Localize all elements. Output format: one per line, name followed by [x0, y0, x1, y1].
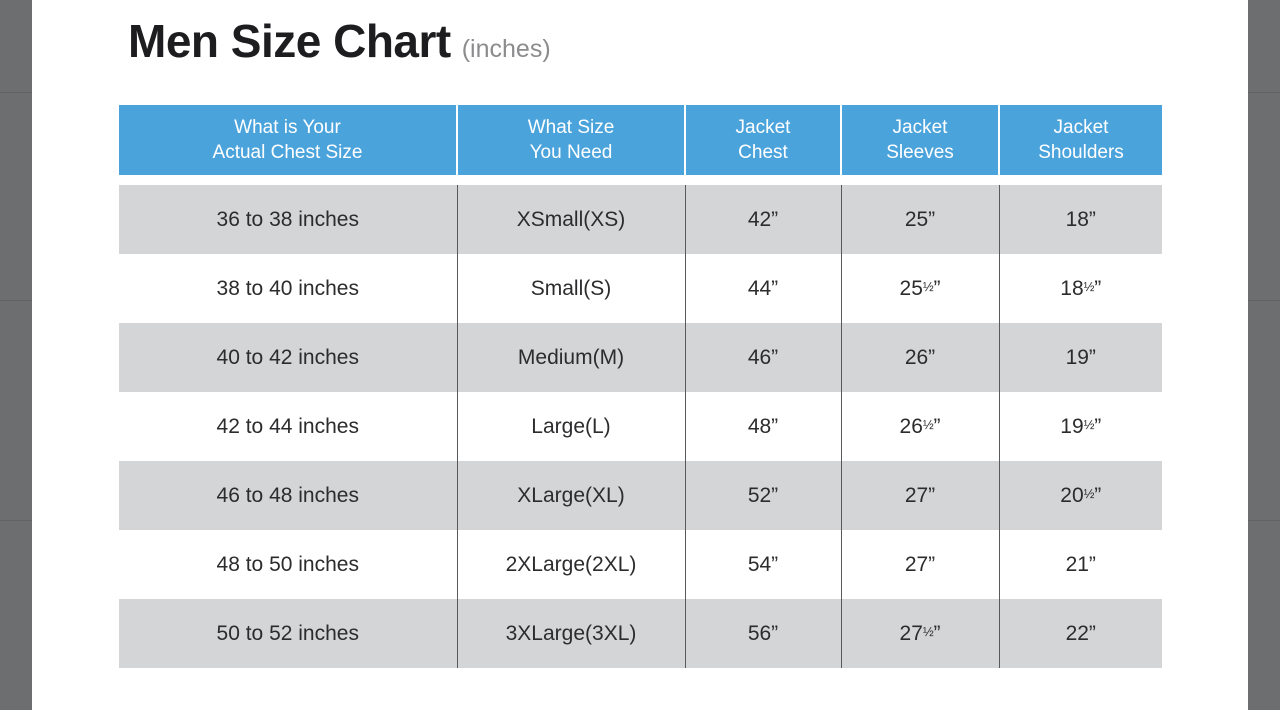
page-title-main: Men Size Chart	[128, 18, 451, 64]
column-header-size-needed-line1: What Size	[458, 115, 684, 140]
cell-jacket-chest: 48”	[685, 392, 841, 461]
cell-size-needed: Small(S)	[457, 254, 685, 323]
page-title: Men Size Chart (inches)	[128, 18, 551, 64]
header-body-gap	[119, 175, 1162, 185]
column-header-jacket-sleeves-line1: Jacket	[842, 115, 998, 140]
table-row: 46 to 48 inches XLarge(XL) 52” 27” 20½”	[119, 461, 1162, 530]
table-row: 40 to 42 inches Medium(M) 46” 26” 19”	[119, 323, 1162, 392]
letterbox-bar-left	[0, 0, 32, 710]
cell-jacket-sleeves: 27”	[841, 530, 999, 599]
cell-actual-chest: 42 to 44 inches	[119, 392, 457, 461]
cell-size-needed: Large(L)	[457, 392, 685, 461]
size-chart-screen: Men Size Chart (inches) What is Your Act…	[0, 0, 1280, 710]
cell-jacket-sleeves: 25½”	[841, 254, 999, 323]
header-row: What is Your Actual Chest Size What Size…	[119, 105, 1162, 175]
cell-size-needed: XLarge(XL)	[457, 461, 685, 530]
table-row: 42 to 44 inches Large(L) 48” 26½” 19½”	[119, 392, 1162, 461]
column-header-jacket-sleeves-line2: Sleeves	[842, 140, 998, 165]
column-header-jacket-shoulders-line1: Jacket	[1000, 115, 1162, 140]
cell-jacket-shoulders: 19”	[999, 323, 1162, 392]
cell-jacket-sleeves: 27”	[841, 461, 999, 530]
cell-actual-chest: 36 to 38 inches	[119, 185, 457, 254]
table-header: What is Your Actual Chest Size What Size…	[119, 105, 1162, 175]
column-header-jacket-chest-line1: Jacket	[686, 115, 840, 140]
letterbox-bar-right	[1248, 0, 1280, 710]
cell-jacket-sleeves: 27½”	[841, 599, 999, 668]
cell-jacket-chest: 54”	[685, 530, 841, 599]
chart-page: Men Size Chart (inches) What is Your Act…	[32, 0, 1248, 710]
cell-jacket-chest: 52”	[685, 461, 841, 530]
cell-jacket-shoulders: 21”	[999, 530, 1162, 599]
column-header-jacket-shoulders: Jacket Shoulders	[999, 105, 1162, 175]
column-header-jacket-chest-line2: Chest	[686, 140, 840, 165]
column-header-jacket-chest: Jacket Chest	[685, 105, 841, 175]
cell-size-needed: Medium(M)	[457, 323, 685, 392]
cell-actual-chest: 38 to 40 inches	[119, 254, 457, 323]
cell-jacket-chest: 42”	[685, 185, 841, 254]
cell-size-needed: XSmall(XS)	[457, 185, 685, 254]
column-header-jacket-sleeves: Jacket Sleeves	[841, 105, 999, 175]
cell-jacket-sleeves: 25”	[841, 185, 999, 254]
column-header-actual-chest-line1: What is Your	[119, 115, 456, 140]
cell-jacket-sleeves: 26½”	[841, 392, 999, 461]
table-body: 36 to 38 inches XSmall(XS) 42” 25” 18” 3…	[119, 175, 1162, 668]
column-header-actual-chest-line2: Actual Chest Size	[119, 140, 456, 165]
cell-size-needed: 2XLarge(2XL)	[457, 530, 685, 599]
men-size-chart-table: What is Your Actual Chest Size What Size…	[119, 105, 1162, 668]
cell-jacket-shoulders: 18”	[999, 185, 1162, 254]
column-header-actual-chest: What is Your Actual Chest Size	[119, 105, 457, 175]
cell-jacket-chest: 44”	[685, 254, 841, 323]
cell-jacket-shoulders: 20½”	[999, 461, 1162, 530]
cell-jacket-shoulders: 22”	[999, 599, 1162, 668]
cell-jacket-shoulders: 19½”	[999, 392, 1162, 461]
cell-size-needed: 3XLarge(3XL)	[457, 599, 685, 668]
cell-jacket-shoulders: 18½”	[999, 254, 1162, 323]
cell-actual-chest: 46 to 48 inches	[119, 461, 457, 530]
column-header-size-needed-line2: You Need	[458, 140, 684, 165]
column-header-size-needed: What Size You Need	[457, 105, 685, 175]
page-title-unit-note: (inches)	[462, 37, 551, 62]
cell-actual-chest: 50 to 52 inches	[119, 599, 457, 668]
cell-jacket-sleeves: 26”	[841, 323, 999, 392]
column-header-jacket-shoulders-line2: Shoulders	[1000, 140, 1162, 165]
table-row: 50 to 52 inches 3XLarge(3XL) 56” 27½” 22…	[119, 599, 1162, 668]
table-row: 48 to 50 inches 2XLarge(2XL) 54” 27” 21”	[119, 530, 1162, 599]
cell-actual-chest: 48 to 50 inches	[119, 530, 457, 599]
cell-jacket-chest: 46”	[685, 323, 841, 392]
table-row: 38 to 40 inches Small(S) 44” 25½” 18½”	[119, 254, 1162, 323]
cell-actual-chest: 40 to 42 inches	[119, 323, 457, 392]
cell-jacket-chest: 56”	[685, 599, 841, 668]
table-row: 36 to 38 inches XSmall(XS) 42” 25” 18”	[119, 185, 1162, 254]
